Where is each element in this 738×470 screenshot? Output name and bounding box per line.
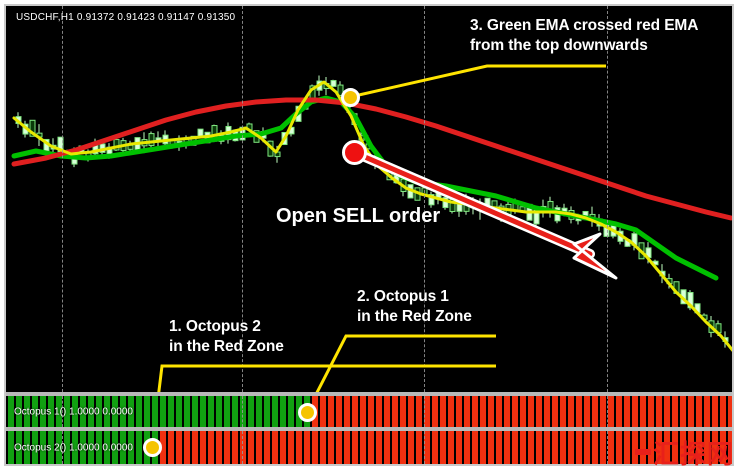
panel2-gridline-2	[242, 431, 243, 464]
zone-bar	[288, 431, 294, 464]
zone-bar	[536, 431, 542, 464]
watermark-text: 汇探网	[653, 440, 734, 470]
zone-bar	[376, 396, 382, 427]
zone-bar	[272, 431, 278, 464]
zone-bar	[216, 396, 222, 427]
annotation-octopus1: 2. Octopus 1 in the Red Zone	[357, 287, 472, 327]
zone-bar	[328, 431, 334, 464]
zone-bar	[320, 396, 326, 427]
panel1-gridline-2	[242, 396, 243, 427]
zone-bar	[672, 396, 678, 427]
zone-bar	[352, 396, 358, 427]
zone-bar	[392, 396, 398, 427]
zone-bar	[560, 396, 566, 427]
indicator-panel-octopus1[interactable]: Octopus 1() 1.0000 0.0000	[6, 396, 732, 427]
zone-bar	[376, 431, 382, 464]
annotation-ema-cross: 3. Green EMA crossed red EMA from the to…	[470, 16, 698, 56]
watermark: 汇探网	[635, 442, 734, 468]
zone-bar	[208, 396, 214, 427]
zone-bar	[456, 431, 462, 464]
zone-bar	[184, 396, 190, 427]
zone-bar	[536, 396, 542, 427]
zone-bar	[568, 431, 574, 464]
zone-bar	[320, 431, 326, 464]
zone-bar	[240, 396, 246, 427]
octopus1-label: Octopus 1() 1.0000 0.0000	[14, 406, 133, 417]
zone-bar	[544, 396, 550, 427]
zone-bar	[488, 396, 494, 427]
zone-bar	[576, 396, 582, 427]
zone-bar	[352, 431, 358, 464]
zone-bar	[328, 396, 334, 427]
zone-bar	[728, 396, 732, 427]
zone-bar	[416, 431, 422, 464]
zone-bar	[712, 396, 718, 427]
zone-bar	[224, 431, 230, 464]
zone-bar	[248, 431, 254, 464]
zone-bar	[232, 396, 238, 427]
zone-bar	[408, 396, 414, 427]
annotation-octopus2: 1. Octopus 2 in the Red Zone	[169, 317, 284, 357]
chart-frame: USDCHF,H1 0.91372 0.91423 0.91147 0.9135…	[4, 4, 734, 466]
zone-bar	[496, 431, 502, 464]
zone-bar	[360, 431, 366, 464]
zone-bar	[416, 396, 422, 427]
zone-bar	[280, 396, 286, 427]
leader-line-ema-cross	[350, 66, 606, 97]
zone-bar	[496, 396, 502, 427]
zone-bar	[456, 396, 462, 427]
zone-bar	[184, 431, 190, 464]
zone-bar	[208, 431, 214, 464]
zone-bar	[544, 431, 550, 464]
zone-bar	[200, 396, 206, 427]
zone-bar	[432, 396, 438, 427]
zone-bar	[152, 396, 158, 427]
indicator-panel-octopus2[interactable]: Octopus 2() 1.0000 0.0000	[6, 431, 732, 464]
zone-bar	[520, 431, 526, 464]
zone-bar	[136, 431, 142, 464]
zone-bar	[192, 431, 198, 464]
zone-bar	[384, 396, 390, 427]
zone-bar	[472, 431, 478, 464]
zone-bar	[448, 431, 454, 464]
zone-bar	[272, 396, 278, 427]
zone-bar	[512, 431, 518, 464]
zone-bar	[616, 396, 622, 427]
zone-bar	[400, 396, 406, 427]
zone-bar	[136, 396, 142, 427]
zone-bar	[600, 396, 606, 427]
zone-bar	[160, 396, 166, 427]
zone-bar	[704, 396, 710, 427]
leader-line-octopus1	[307, 336, 496, 392]
panel2-gridline-4	[607, 431, 608, 464]
octopus2-label: Octopus 2() 1.0000 0.0000	[14, 442, 133, 453]
zone-bar	[648, 396, 654, 427]
zone-bar	[504, 431, 510, 464]
zone-bar	[688, 396, 694, 427]
zone-bar	[432, 431, 438, 464]
zone-bar	[144, 396, 150, 427]
zone-bar	[512, 396, 518, 427]
zone-bar	[176, 396, 182, 427]
zone-bar	[400, 431, 406, 464]
watermark-bar	[635, 449, 651, 455]
zone-bar	[384, 431, 390, 464]
zone-bar	[256, 431, 262, 464]
zone-bar	[176, 431, 182, 464]
zone-bar	[480, 396, 486, 427]
zone-bar	[528, 431, 534, 464]
zone-bar	[304, 431, 310, 464]
zone-bar	[248, 396, 254, 427]
zone-bar	[680, 396, 686, 427]
zone-bar	[616, 431, 622, 464]
zone-bar	[600, 431, 606, 464]
zone-bar	[408, 431, 414, 464]
zone-bar	[664, 396, 670, 427]
chart-screenshot: USDCHF,H1 0.91372 0.91423 0.91147 0.9135…	[0, 0, 738, 470]
zone-bar	[560, 431, 566, 464]
zone-bar	[656, 396, 662, 427]
zone-bar	[240, 431, 246, 464]
zone-bar	[720, 396, 726, 427]
zone-bar	[264, 396, 270, 427]
zone-bar	[520, 396, 526, 427]
zone-bar	[488, 431, 494, 464]
zone-bar	[192, 396, 198, 427]
zone-bar	[232, 431, 238, 464]
zone-bar	[640, 396, 646, 427]
zone-bar	[576, 431, 582, 464]
zone-bar	[288, 396, 294, 427]
zone-bar	[264, 431, 270, 464]
zone-bar	[440, 396, 446, 427]
zone-bar	[344, 431, 350, 464]
zone-bar	[256, 396, 262, 427]
zone-bar	[608, 396, 614, 427]
zone-bar	[584, 431, 590, 464]
zone-bar	[568, 396, 574, 427]
panel1-gridline-4	[607, 396, 608, 427]
zone-bar	[528, 396, 534, 427]
zone-bar	[504, 396, 510, 427]
zone-bar	[224, 396, 230, 427]
ema-cross-marker[interactable]	[341, 88, 360, 107]
zone-bar	[280, 431, 286, 464]
zone-bar	[200, 431, 206, 464]
zone-bar	[632, 396, 638, 427]
zone-bar	[312, 431, 318, 464]
zone-bar	[368, 396, 374, 427]
zone-bar	[168, 431, 174, 464]
zone-bar	[608, 431, 614, 464]
zone-bar	[552, 431, 558, 464]
panel1-gridline-3	[424, 396, 425, 427]
price-pane[interactable]: USDCHF,H1 0.91372 0.91423 0.91147 0.9135…	[6, 6, 732, 392]
zone-bar	[592, 396, 598, 427]
annotation-overlay	[6, 6, 732, 392]
zone-bar	[472, 396, 478, 427]
zone-bar	[168, 396, 174, 427]
zone-bar	[344, 396, 350, 427]
zone-bar	[624, 431, 630, 464]
zone-bar	[368, 431, 374, 464]
octopus2-zone-marker[interactable]	[143, 438, 162, 457]
zone-bar	[216, 431, 222, 464]
zone-bar	[392, 431, 398, 464]
zone-bar	[624, 396, 630, 427]
open-sell-order-label: Open SELL order	[276, 205, 440, 228]
zone-bar	[552, 396, 558, 427]
zone-bar	[592, 431, 598, 464]
zone-bar	[696, 396, 702, 427]
zone-bar	[296, 431, 302, 464]
sell-entry-marker[interactable]	[342, 140, 367, 165]
panel2-gridline-3	[424, 431, 425, 464]
octopus1-zone-marker[interactable]	[298, 403, 317, 422]
zone-bar	[360, 396, 366, 427]
zone-bar	[480, 431, 486, 464]
zone-bar	[336, 396, 342, 427]
zone-bar	[464, 431, 470, 464]
zone-bar	[336, 431, 342, 464]
zone-bar	[584, 396, 590, 427]
zone-bar	[464, 396, 470, 427]
zone-bar	[448, 396, 454, 427]
zone-bar	[440, 431, 446, 464]
